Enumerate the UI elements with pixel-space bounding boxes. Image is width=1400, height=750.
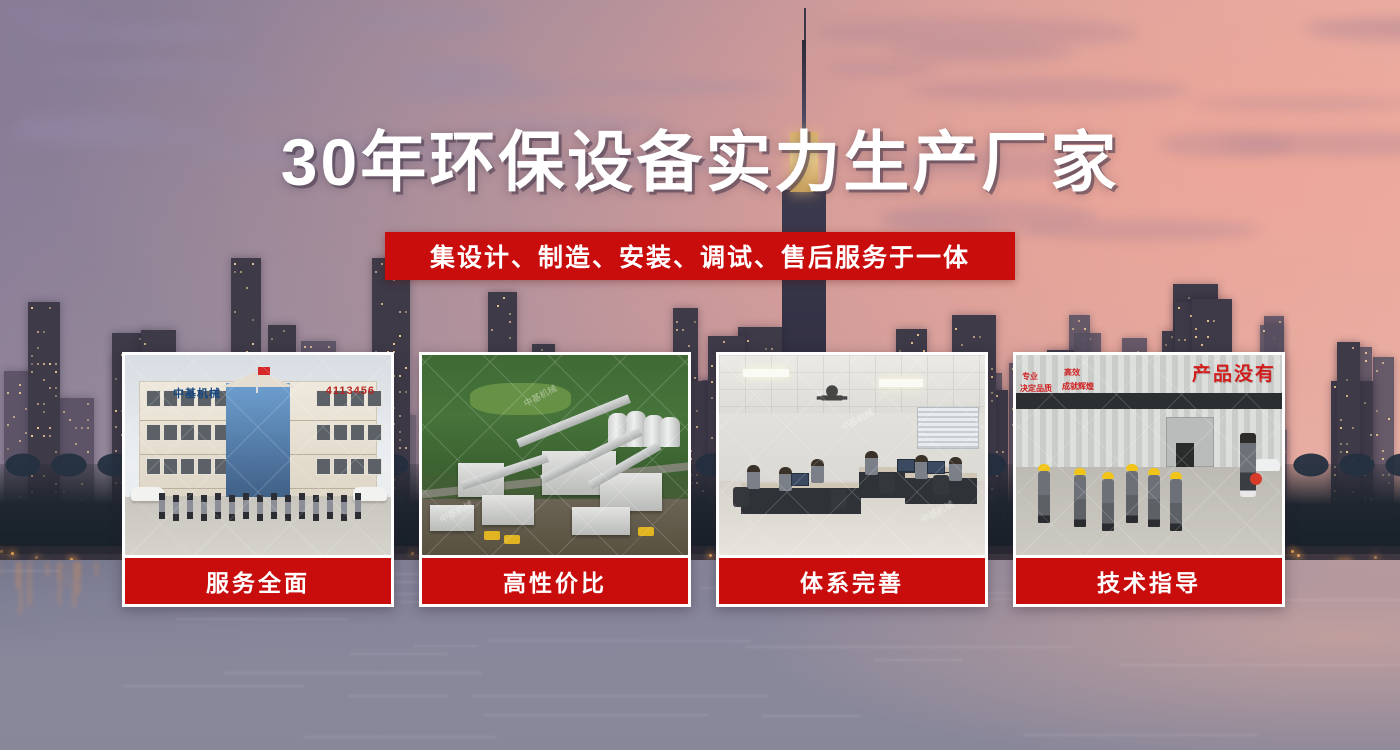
card-caption: 技术指导	[1016, 558, 1282, 604]
feature-card[interactable]: 中基机械 中基机械 高性价比	[419, 352, 691, 607]
watermark-mesh	[719, 355, 985, 555]
watermark-mesh	[1016, 355, 1282, 555]
office-interior-photo: 中基机械 中基机械	[719, 355, 985, 555]
feature-card[interactable]: 产品没有 专业 高效 决定品质 成就辉煌 技术指导	[1013, 352, 1285, 607]
feature-card-list: 中基机械 4113456 服务全面 中基机械 中基	[122, 352, 1285, 607]
card-caption-text: 服务全面	[206, 564, 310, 598]
card-caption: 服务全面	[125, 558, 391, 604]
tower-spire	[802, 40, 806, 135]
card-caption-text: 体系完善	[800, 564, 904, 598]
tower-antenna-tip	[804, 8, 806, 44]
street-lamp	[11, 552, 14, 555]
company-building-staff-photo: 中基机械 4113456	[125, 355, 391, 555]
subtitle-text: 集设计、制造、安装、调试、售后服务于一体	[430, 238, 970, 274]
page-title: 30年环保设备实力生产厂家	[0, 128, 1400, 197]
workers-training-photo: 产品没有 专业 高效 决定品质 成就辉煌	[1016, 355, 1282, 555]
street-lamp	[1374, 556, 1377, 559]
feature-card[interactable]: 中基机械 中基机械 体系完善	[716, 352, 988, 607]
card-caption-text: 技术指导	[1097, 564, 1201, 598]
card-caption: 高性价比	[422, 558, 688, 604]
street-lamp	[1291, 550, 1294, 553]
aerial-plant-photo: 中基机械 中基机械	[422, 355, 688, 555]
card-caption: 体系完善	[719, 558, 985, 604]
street-lamp	[0, 550, 3, 553]
subtitle-bar: 集设计、制造、安装、调试、售后服务于一体	[385, 232, 1015, 280]
promo-banner: 30年环保设备实力生产厂家 集设计、制造、安装、调试、售后服务于一体 中基机械 …	[0, 0, 1400, 750]
watermark-mesh	[125, 355, 391, 555]
card-caption-text: 高性价比	[503, 564, 607, 598]
feature-card[interactable]: 中基机械 4113456 服务全面	[122, 352, 394, 607]
street-lamp	[35, 556, 38, 559]
street-lamp	[1297, 554, 1300, 557]
